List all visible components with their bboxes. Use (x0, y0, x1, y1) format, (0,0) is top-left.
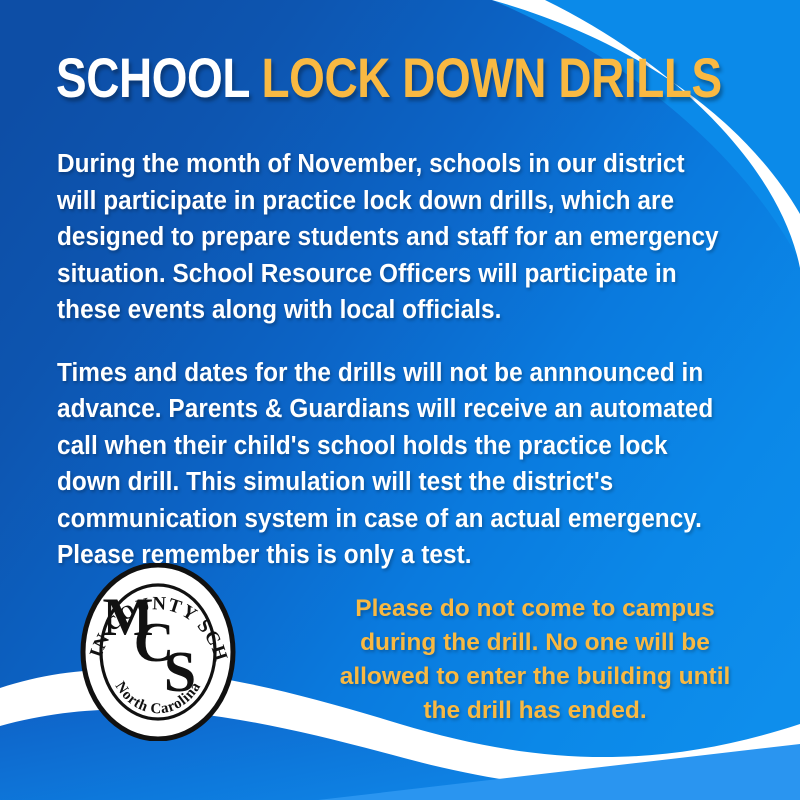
logo-seal: MARTIN COUNTY SCHOOLS North Carolina M C… (80, 563, 236, 741)
notice-text: Please do not come to campus during the … (320, 592, 750, 728)
page-title: SCHOOL LOCK DOWN DRILLS (56, 48, 597, 108)
seal-monogram-letter-s: S (164, 639, 196, 704)
poster-root: SCHOOL LOCK DOWN DRILLS During the month… (0, 0, 800, 800)
martin-county-schools-seal-icon: MARTIN COUNTY SCHOOLS North Carolina M C… (80, 563, 236, 741)
title-part-gold: LOCK DOWN DRILLS (261, 46, 721, 109)
body-paragraph-1: During the month of November, schools in… (57, 146, 726, 329)
title-block: SCHOOL LOCK DOWN DRILLS (56, 48, 716, 108)
body-copy: During the month of November, schools in… (57, 146, 757, 574)
body-paragraph-2: Times and dates for the drills will not … (57, 355, 726, 574)
title-part-white: SCHOOL (56, 46, 261, 109)
